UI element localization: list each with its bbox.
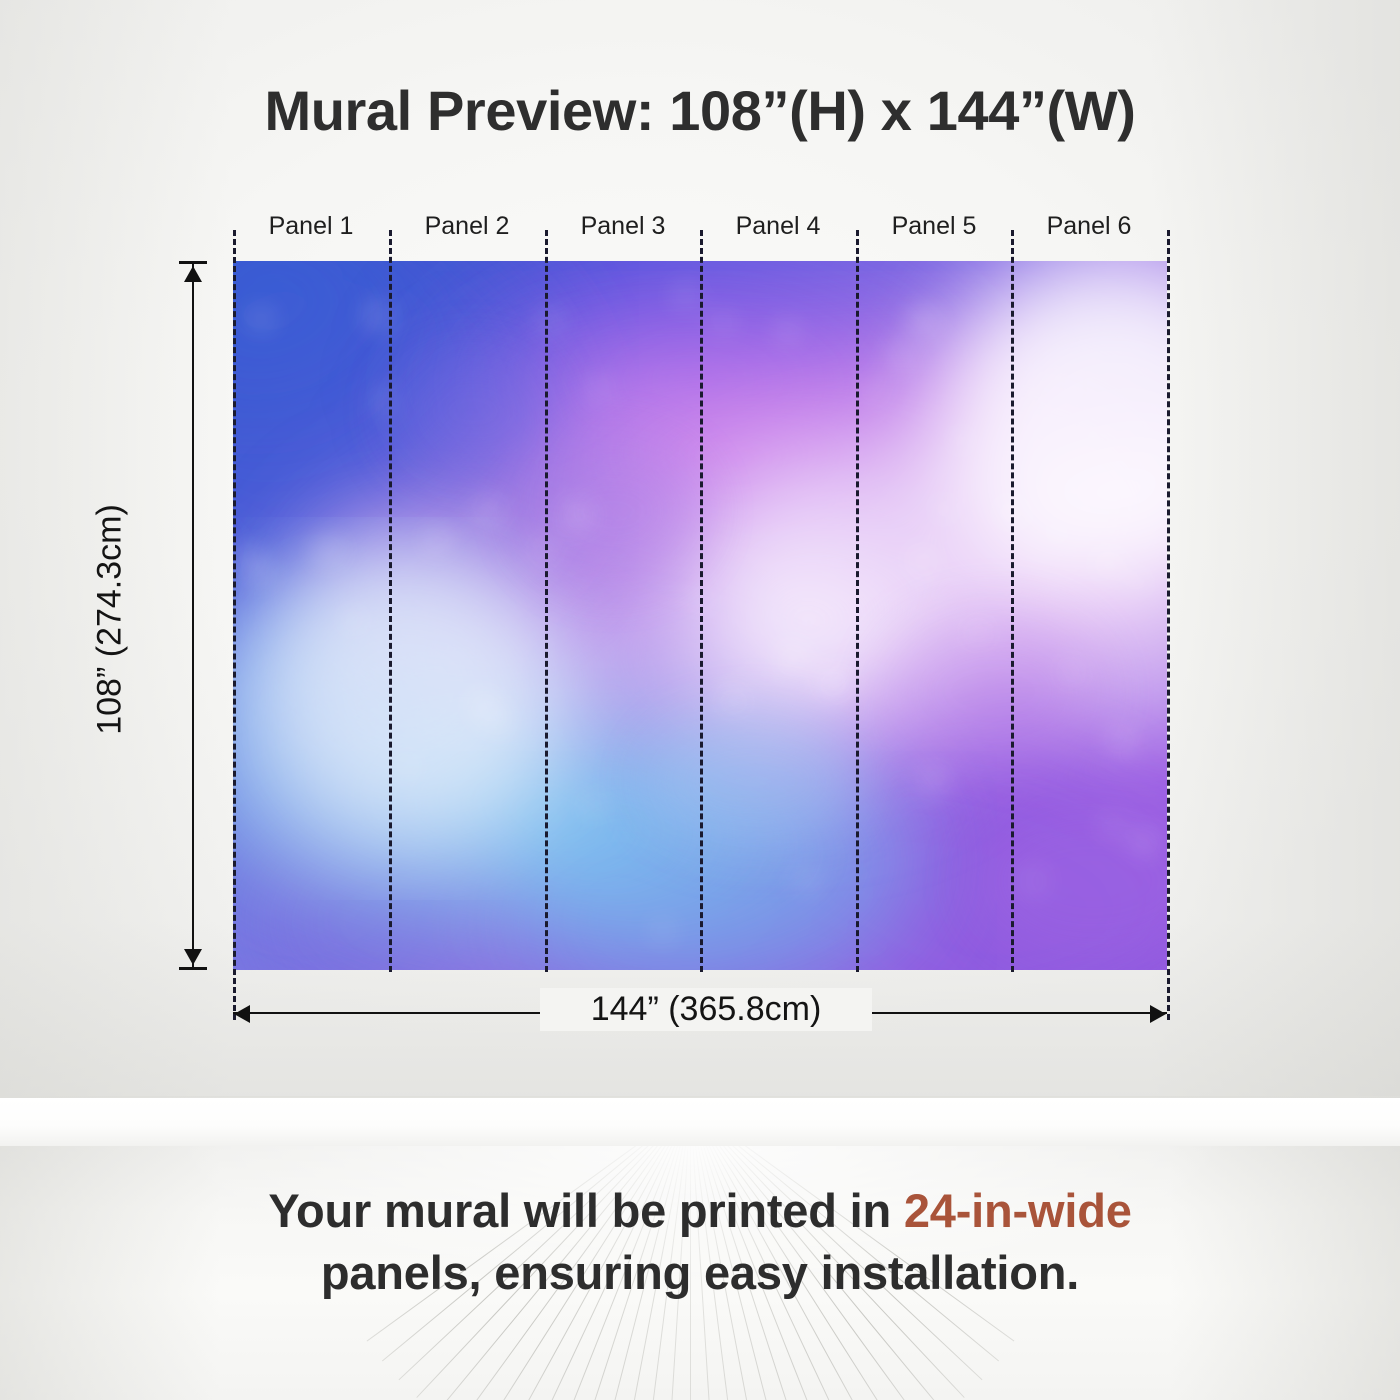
height-cap-top bbox=[179, 261, 207, 264]
panel-label-2: Panel 2 bbox=[389, 212, 545, 241]
mural-left-edge-guide bbox=[233, 230, 236, 1020]
panel-divider-4 bbox=[856, 230, 859, 972]
baseboard bbox=[0, 1098, 1400, 1146]
caption-text-before: Your mural will be printed in bbox=[268, 1184, 904, 1237]
height-label: 108” (274.3cm) bbox=[91, 410, 130, 830]
caption: Your mural will be printed in 24-in-wide… bbox=[0, 1180, 1400, 1304]
panel-divider-3 bbox=[700, 230, 703, 972]
width-label: 144” (365.8cm) bbox=[540, 988, 872, 1031]
panel-label-5: Panel 5 bbox=[856, 212, 1012, 241]
height-arrow-up-icon bbox=[184, 266, 202, 282]
height-dimension-line bbox=[192, 261, 194, 970]
page-title: Mural Preview: 108”(H) x 144”(W) bbox=[0, 78, 1400, 143]
caption-line-2: panels, ensuring easy installation. bbox=[0, 1242, 1400, 1304]
panel-divider-2 bbox=[545, 230, 548, 972]
height-cap-bottom bbox=[179, 967, 207, 970]
mural-right-edge-guide bbox=[1167, 230, 1170, 1020]
panel-divider-5 bbox=[1011, 230, 1014, 972]
width-arrow-right-icon bbox=[1150, 1005, 1166, 1023]
mural-preview-scene: Mural Preview: 108”(H) x 144”(W) bbox=[0, 0, 1400, 1400]
panel-label-1: Panel 1 bbox=[233, 212, 389, 241]
panel-label-6: Panel 6 bbox=[1011, 212, 1167, 241]
width-arrow-left-icon bbox=[234, 1005, 250, 1023]
panel-label-3: Panel 3 bbox=[545, 212, 701, 241]
panel-label-4: Panel 4 bbox=[700, 212, 856, 241]
caption-accent: 24-in-wide bbox=[904, 1184, 1132, 1237]
caption-line-1: Your mural will be printed in 24-in-wide bbox=[0, 1180, 1400, 1242]
panel-divider-1 bbox=[389, 230, 392, 972]
height-arrow-down-icon bbox=[184, 949, 202, 965]
